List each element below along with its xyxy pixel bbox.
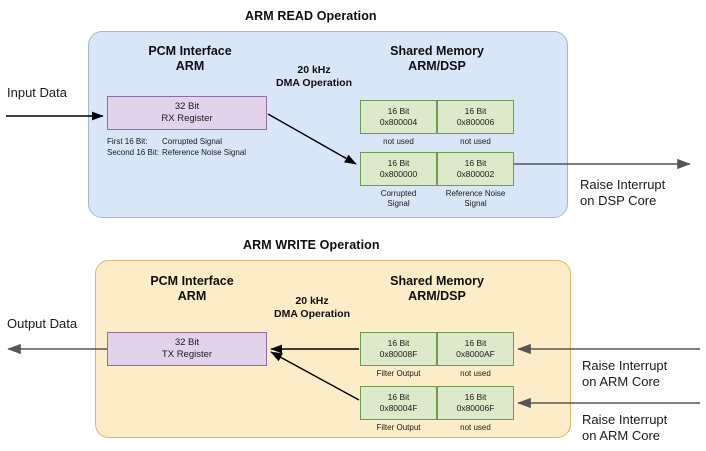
read-pcm-interface-title: PCM Interface ARM — [110, 44, 270, 74]
write-operation-title: ARM WRITE Operation — [243, 238, 380, 252]
output-data-label: Output Data — [7, 316, 77, 331]
tx-register-line2: TX Register — [162, 349, 212, 361]
read-memory-caption-1-1: not used — [360, 137, 437, 147]
read-mem-2-2-line1: 16 Bit — [465, 158, 487, 169]
rx-note-2-value: Reference Noise Signal — [162, 148, 246, 157]
read-mem-1-1-line1: 16 Bit — [388, 106, 410, 117]
read-mem-2-2-line2: 0x800002 — [457, 169, 494, 180]
read-mem-2-1-line2: 0x800000 — [380, 169, 417, 180]
input-data-label: Input Data — [7, 85, 67, 100]
rx-register-line1: 32 Bit — [175, 101, 199, 113]
read-memory-cell-1-1: 16 Bit 0x800004 — [360, 100, 437, 134]
write-dma-label: 20 kHz DMA Operation — [265, 295, 359, 321]
read-interrupt-label: Raise Interrupt on DSP Core — [580, 177, 665, 209]
write-mem-1-2-line1: 16 Bit — [465, 338, 487, 349]
write-interrupt-label-2: Raise Interrupt on ARM Core — [582, 412, 667, 444]
read-memory-caption-1-2: not used — [437, 137, 514, 147]
write-mem-1-1-line1: 16 Bit — [388, 338, 410, 349]
read-shared-memory-title: Shared Memory ARM/DSP — [357, 44, 517, 74]
write-memory-caption-1-1: Filter Output — [360, 369, 437, 379]
read-shared-memory-line1: Shared Memory — [390, 44, 484, 58]
diagram-canvas: ARM READ Operation PCM Interface ARM Sha… — [0, 0, 706, 451]
write-pcm-interface-line2: ARM — [178, 289, 206, 303]
write-interrupt-2-line2: on ARM Core — [582, 428, 660, 443]
rx-note-1-value: Corrupted Signal — [162, 137, 222, 146]
rx-register-note-1: First 16 Bit:Corrupted Signal — [107, 136, 222, 147]
write-shared-memory-title: Shared Memory ARM/DSP — [357, 274, 517, 304]
read-dma-line1: 20 kHz — [297, 64, 330, 76]
read-memory-row-1: 16 Bit 0x800004 16 Bit 0x800006 — [360, 100, 514, 134]
write-memory-cell-1-1: 16 Bit 0x80008F — [360, 332, 437, 366]
rx-note-2-key: Second 16 Bit: — [107, 147, 162, 158]
tx-register-box: 32 Bit TX Register — [107, 332, 267, 366]
write-memory-cell-2-2: 16 Bit 0x80006F — [437, 386, 514, 420]
read-memory-cell-2-2: 16 Bit 0x800002 — [437, 152, 514, 186]
read-shared-memory-line2: ARM/DSP — [408, 59, 466, 73]
write-memory-row-1: 16 Bit 0x80008F 16 Bit 0x8000AF — [360, 332, 514, 366]
write-interrupt-label-1: Raise Interrupt on ARM Core — [582, 358, 667, 390]
write-mem-2-1-line1: 16 Bit — [388, 392, 410, 403]
write-interrupt-2-line1: Raise Interrupt — [582, 412, 667, 427]
rx-register-box: 32 Bit RX Register — [107, 96, 267, 130]
write-pcm-interface-title: PCM Interface ARM — [112, 274, 272, 304]
read-memory-caption-2-1: Corrupted Signal — [360, 189, 437, 209]
write-mem-1-2-line2: 0x8000AF — [456, 349, 495, 360]
read-mem-2-1-line1: 16 Bit — [388, 158, 410, 169]
rx-register-note-2: Second 16 Bit:Reference Noise Signal — [107, 147, 246, 158]
read-mem-1-2-line2: 0x800006 — [457, 117, 494, 128]
read-mem-1-1-line2: 0x800004 — [380, 117, 417, 128]
write-shared-memory-line1: Shared Memory — [390, 274, 484, 288]
read-memory-cell-2-1: 16 Bit 0x800000 — [360, 152, 437, 186]
tx-register-line1: 32 Bit — [175, 337, 199, 349]
read-mem-1-2-line1: 16 Bit — [465, 106, 487, 117]
write-memory-cell-1-2: 16 Bit 0x8000AF — [437, 332, 514, 366]
read-memory-cell-1-2: 16 Bit 0x800006 — [437, 100, 514, 134]
write-mem-1-1-line2: 0x80008F — [380, 349, 418, 360]
write-mem-2-1-line2: 0x80004F — [380, 403, 418, 414]
write-memory-caption-2-1: Filter Output — [360, 423, 437, 433]
read-dma-label: 20 kHz DMA Operation — [267, 64, 361, 90]
read-memory-row-2: 16 Bit 0x800000 16 Bit 0x800002 — [360, 152, 514, 186]
write-mem-2-2-line2: 0x80006F — [457, 403, 495, 414]
write-dma-line2: DMA Operation — [274, 308, 350, 320]
write-mem-2-2-line1: 16 Bit — [465, 392, 487, 403]
read-interrupt-line2: on DSP Core — [580, 193, 656, 208]
read-operation-title: ARM READ Operation — [245, 9, 377, 23]
write-pcm-interface-line1: PCM Interface — [150, 274, 233, 288]
write-dma-line1: 20 kHz — [295, 295, 328, 307]
read-memory-caption-2-2: Reference Noise Signal — [437, 189, 514, 209]
read-dma-line2: DMA Operation — [276, 77, 352, 89]
read-interrupt-line1: Raise Interrupt — [580, 177, 665, 192]
rx-register-line2: RX Register — [161, 113, 212, 125]
write-memory-row-2: 16 Bit 0x80004F 16 Bit 0x80006F — [360, 386, 514, 420]
write-memory-caption-2-2: not used — [437, 423, 514, 433]
read-pcm-interface-line2: ARM — [176, 59, 204, 73]
write-interrupt-1-line2: on ARM Core — [582, 374, 660, 389]
read-pcm-interface-line1: PCM Interface — [148, 44, 231, 58]
write-interrupt-1-line1: Raise Interrupt — [582, 358, 667, 373]
rx-note-1-key: First 16 Bit: — [107, 136, 162, 147]
write-shared-memory-line2: ARM/DSP — [408, 289, 466, 303]
write-memory-cell-2-1: 16 Bit 0x80004F — [360, 386, 437, 420]
write-memory-caption-1-2: not used — [437, 369, 514, 379]
